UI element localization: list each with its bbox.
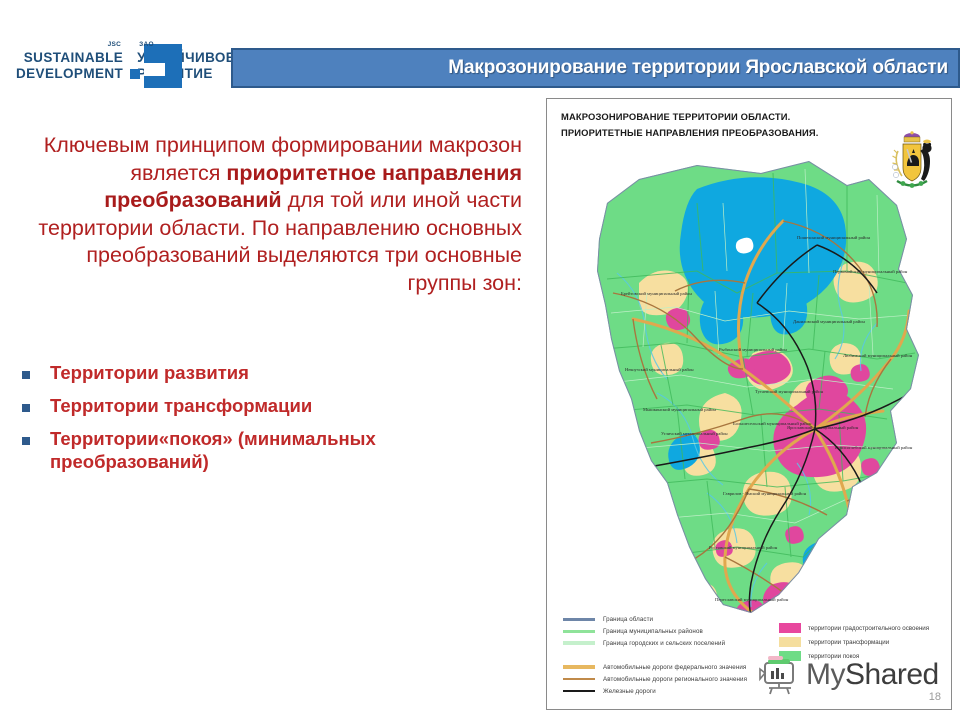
map-panel: МАКРОЗОНИРОВАНИЕ ТЕРРИТОРИИ ОБЛАСТИ. ПРИ… [546, 98, 952, 710]
legend-label: Железные дороги [603, 688, 656, 695]
map-title: МАКРОЗОНИРОВАНИЕ ТЕРРИТОРИИ ОБЛАСТИ. ПРИ… [561, 109, 819, 140]
legend-label: Автомобильные дороги регионального значе… [603, 676, 747, 683]
bullet-label: Территории трансформации [50, 395, 312, 418]
myshared-watermark: MyShared [759, 655, 939, 695]
legend-swatch-oblast-border [563, 618, 595, 621]
map-title-line-2: ПРИОРИТЕТНЫЕ НАПРАВЛЕНИЯ ПРЕОБРАЗОВАНИЯ. [561, 125, 819, 141]
svg-text:Ярославский муниципальный райо: Ярославский муниципальный район [787, 425, 859, 430]
svg-text:Некоузский муниципальный район: Некоузский муниципальный район [625, 367, 694, 372]
list-item: Территории трансформации [22, 395, 522, 418]
list-item: Территории«покоя» (минимальных преобразо… [22, 428, 522, 474]
svg-text:Тутаевский муниципальный район: Тутаевский муниципальный район [755, 389, 824, 394]
legend-item: Железные дороги [563, 685, 778, 697]
legend-swatch-district-border [563, 630, 595, 633]
legend-label: территории градостроительного освоения [808, 625, 929, 632]
bullet-label: Территории«покоя» (минимальных преобразо… [50, 428, 522, 474]
legend-label: Автомобильные дороги федерального значен… [603, 664, 746, 671]
map-legend-left: Граница области Граница муниципальных ра… [563, 613, 778, 697]
watermark-my: My [806, 658, 845, 691]
legend-item: Автомобильные дороги регионального значе… [563, 673, 778, 685]
legend-swatch-federal-road [563, 665, 595, 669]
logo-text-english: JSC SUSTAINABLE DEVELOPMENT [16, 50, 123, 82]
macrozoning-map: Брейтовский муниципальный район Некоузск… [547, 143, 952, 655]
logo-sup-jsc: JSC [108, 41, 122, 49]
legend-swatch-regional-road [563, 678, 595, 680]
page-number: 18 [929, 691, 941, 703]
watermark-text: MyShared [806, 658, 939, 692]
legend-item: Граница области [563, 613, 778, 625]
svg-text:Даниловский муниципальный райо: Даниловский муниципальный район [793, 319, 865, 324]
legend-item: Автомобильные дороги федерального значен… [563, 661, 778, 673]
slide-title-bar: Макрозонирование территории Ярославской … [231, 48, 960, 88]
legend-swatch-urban-zone [779, 623, 801, 633]
svg-text:Угличский муниципальный район: Угличский муниципальный район [661, 431, 728, 436]
svg-text:Брейтовский муниципальный райо: Брейтовский муниципальный район [621, 291, 692, 296]
myshared-logo-icon [759, 655, 801, 695]
legend-label: Граница области [603, 616, 653, 623]
logo-sup-zao: ЗАО [139, 41, 154, 49]
slide-root: JSC SUSTAINABLE DEVELOPMENT ЗАО УСТОЙЧИВ… [0, 0, 960, 720]
svg-text:Мышкинский муниципальный район: Мышкинский муниципальный район [643, 407, 716, 412]
legend-item: территории трансформации [779, 635, 949, 649]
legend-label: территории трансформации [808, 639, 889, 646]
svg-text:Первомайский муниципальный рай: Первомайский муниципальный район [833, 269, 908, 274]
map-zone-layer [547, 143, 952, 655]
bullet-square-icon [22, 371, 30, 379]
legend-swatch-railway [563, 690, 595, 692]
map-title-line-1: МАКРОЗОНИРОВАНИЕ ТЕРРИТОРИИ ОБЛАСТИ. [561, 109, 819, 125]
svg-text:Любимский муниципальный район: Любимский муниципальный район [843, 353, 913, 358]
svg-text:Ростовский муниципальный район: Ростовский муниципальный район [709, 545, 778, 550]
svg-text:Переславский муниципальный рай: Переславский муниципальный район [715, 597, 789, 602]
company-logo: JSC SUSTAINABLE DEVELOPMENT ЗАО УСТОЙЧИВ… [16, 38, 231, 94]
logo-word-development: DEVELOPMENT [16, 66, 123, 82]
body-paragraph: Ключевым принципом формировании макрозон… [22, 132, 522, 297]
page-title: Макрозонирование территории Ярославской … [448, 57, 948, 79]
legend-item: территории градостроительного освоения [779, 621, 949, 635]
legend-swatch-settlement-border [563, 641, 595, 645]
legend-label: Граница городских и сельских поселений [603, 640, 725, 647]
legend-label: Граница муниципальных районов [603, 628, 703, 635]
bullet-square-icon [22, 437, 30, 445]
legend-item: Граница городских и сельских поселений [563, 637, 778, 649]
legend-swatch-transform-zone [779, 637, 801, 647]
legend-item: Граница муниципальных районов [563, 625, 778, 637]
svg-text:Гаврилов - Ямский муниципальны: Гаврилов - Ямский муниципальный район [723, 491, 807, 496]
watermark-shared: Shared [845, 658, 939, 691]
svg-text:Рыбинский муниципальный район: Рыбинский муниципальный район [719, 347, 787, 352]
bullet-label: Территории развития [50, 362, 249, 385]
list-item: Территории развития [22, 362, 522, 385]
bullet-list: Территории развития Территории трансформ… [22, 362, 522, 484]
bullet-square-icon [22, 404, 30, 412]
svg-text:Пошехонский муниципальный райо: Пошехонский муниципальный район [797, 235, 871, 240]
logo-word-sustainable: SUSTAINABLE [24, 50, 123, 66]
svg-text:Борисоглебский муниципальный р: Борисоглебский муниципальный район [835, 445, 913, 450]
